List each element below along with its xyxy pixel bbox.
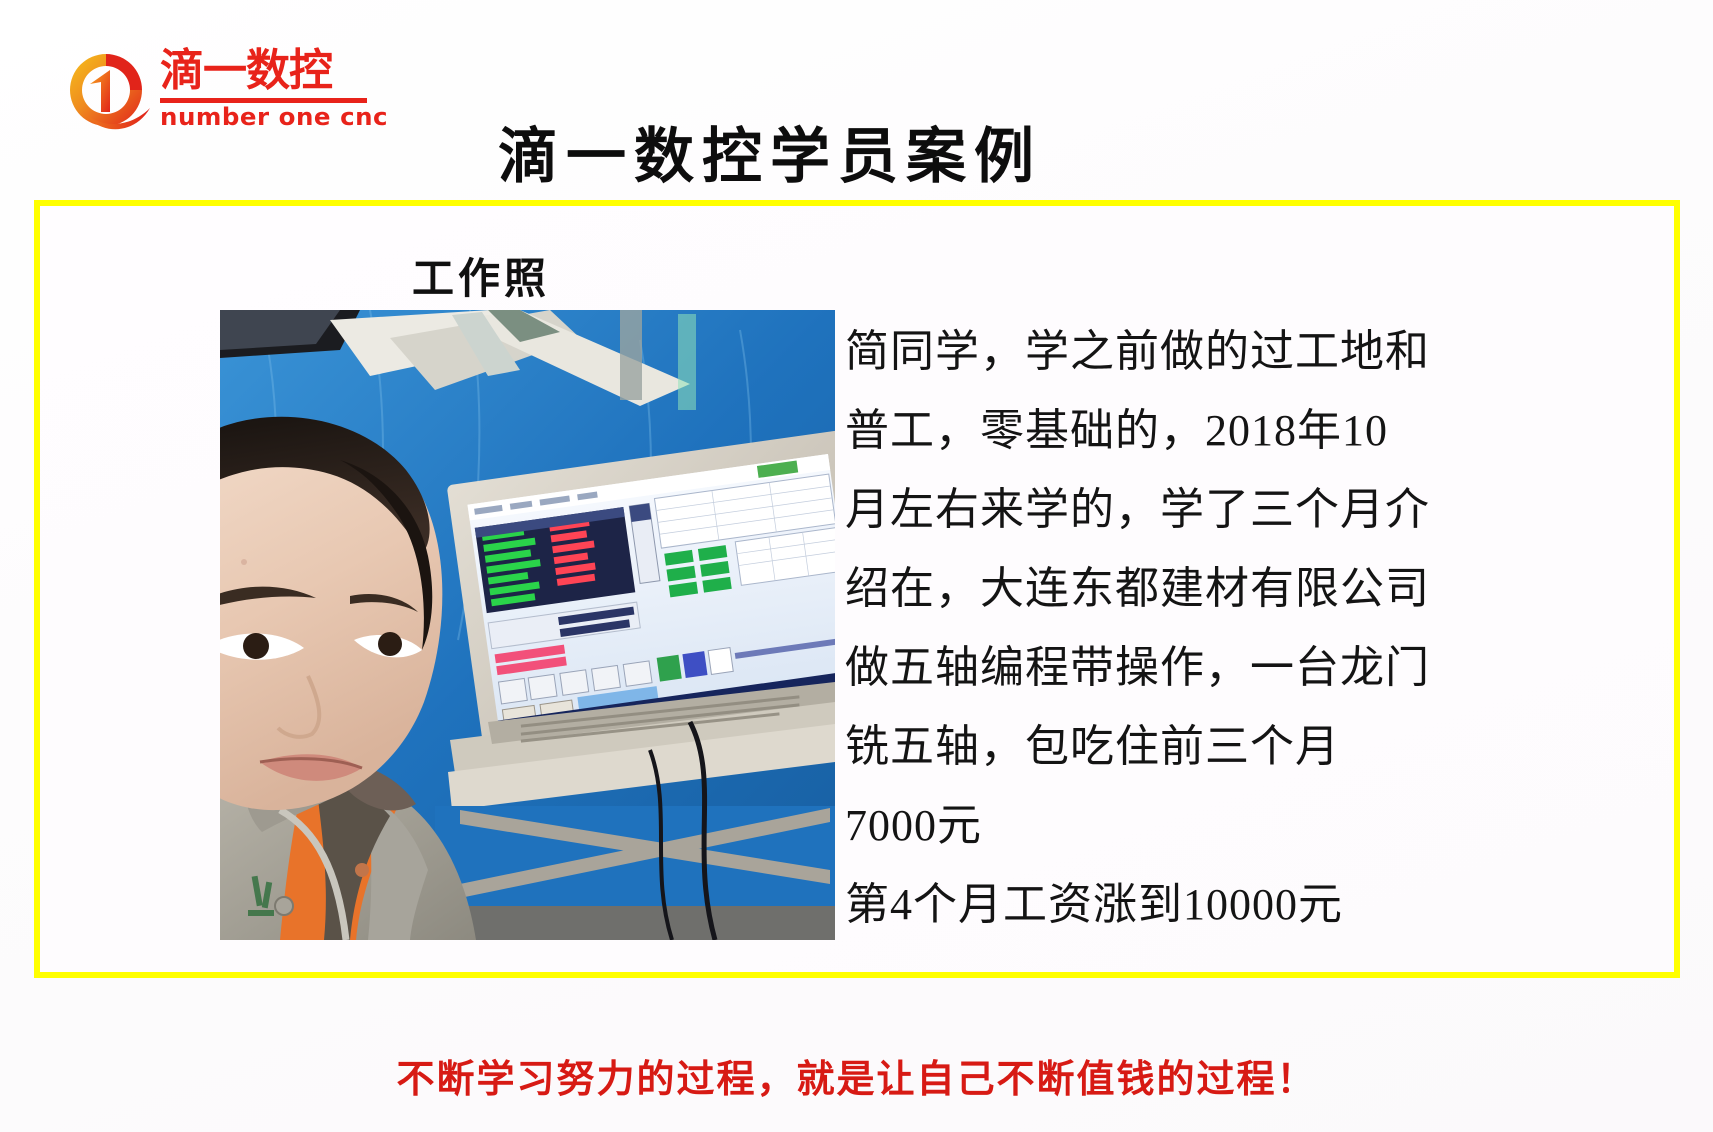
logo-chinese-text: 滴一数控 bbox=[160, 46, 370, 96]
testimonial-line-1: 简同学，学之前做的过工地和 bbox=[845, 312, 1525, 391]
testimonial-line-7: 7000元 bbox=[845, 786, 1525, 865]
testimonial-line-4: 绍在，大连东都建材有限公司 bbox=[845, 549, 1525, 628]
logo-wordmark: 滴一数控 number one cnc bbox=[160, 46, 370, 138]
slide-canvas: 滴一数控 number one cnc 滴一数控学员案例 工作照 bbox=[0, 0, 1713, 1132]
photo-caption-label: 工作照 bbox=[412, 245, 550, 306]
footer-slogan: 不断学习努力的过程，就是让自己不断值钱的过程！ bbox=[0, 1048, 1713, 1103]
testimonial-line-2: 普工，零基础的，2018年10 bbox=[845, 391, 1525, 470]
page-title: 滴一数控学员案例 bbox=[460, 108, 1080, 195]
testimonial-line-5: 做五轴编程带操作，一台龙门 bbox=[845, 628, 1525, 707]
testimonial-line-8: 第4个月工资涨到10000元 bbox=[845, 865, 1525, 944]
logo-mark-icon bbox=[60, 48, 152, 136]
testimonial-line-6: 铣五轴，包吃住前三个月 bbox=[845, 707, 1525, 786]
logo-english-text: number one cnc bbox=[160, 103, 374, 131]
brand-logo: 滴一数控 number one cnc bbox=[60, 42, 370, 142]
student-work-photo bbox=[220, 310, 835, 940]
testimonial-text: 简同学，学之前做的过工地和 普工，零基础的，2018年10 月左右来学的，学了三… bbox=[845, 312, 1525, 944]
testimonial-line-3: 月左右来学的，学了三个月介 bbox=[845, 470, 1525, 549]
